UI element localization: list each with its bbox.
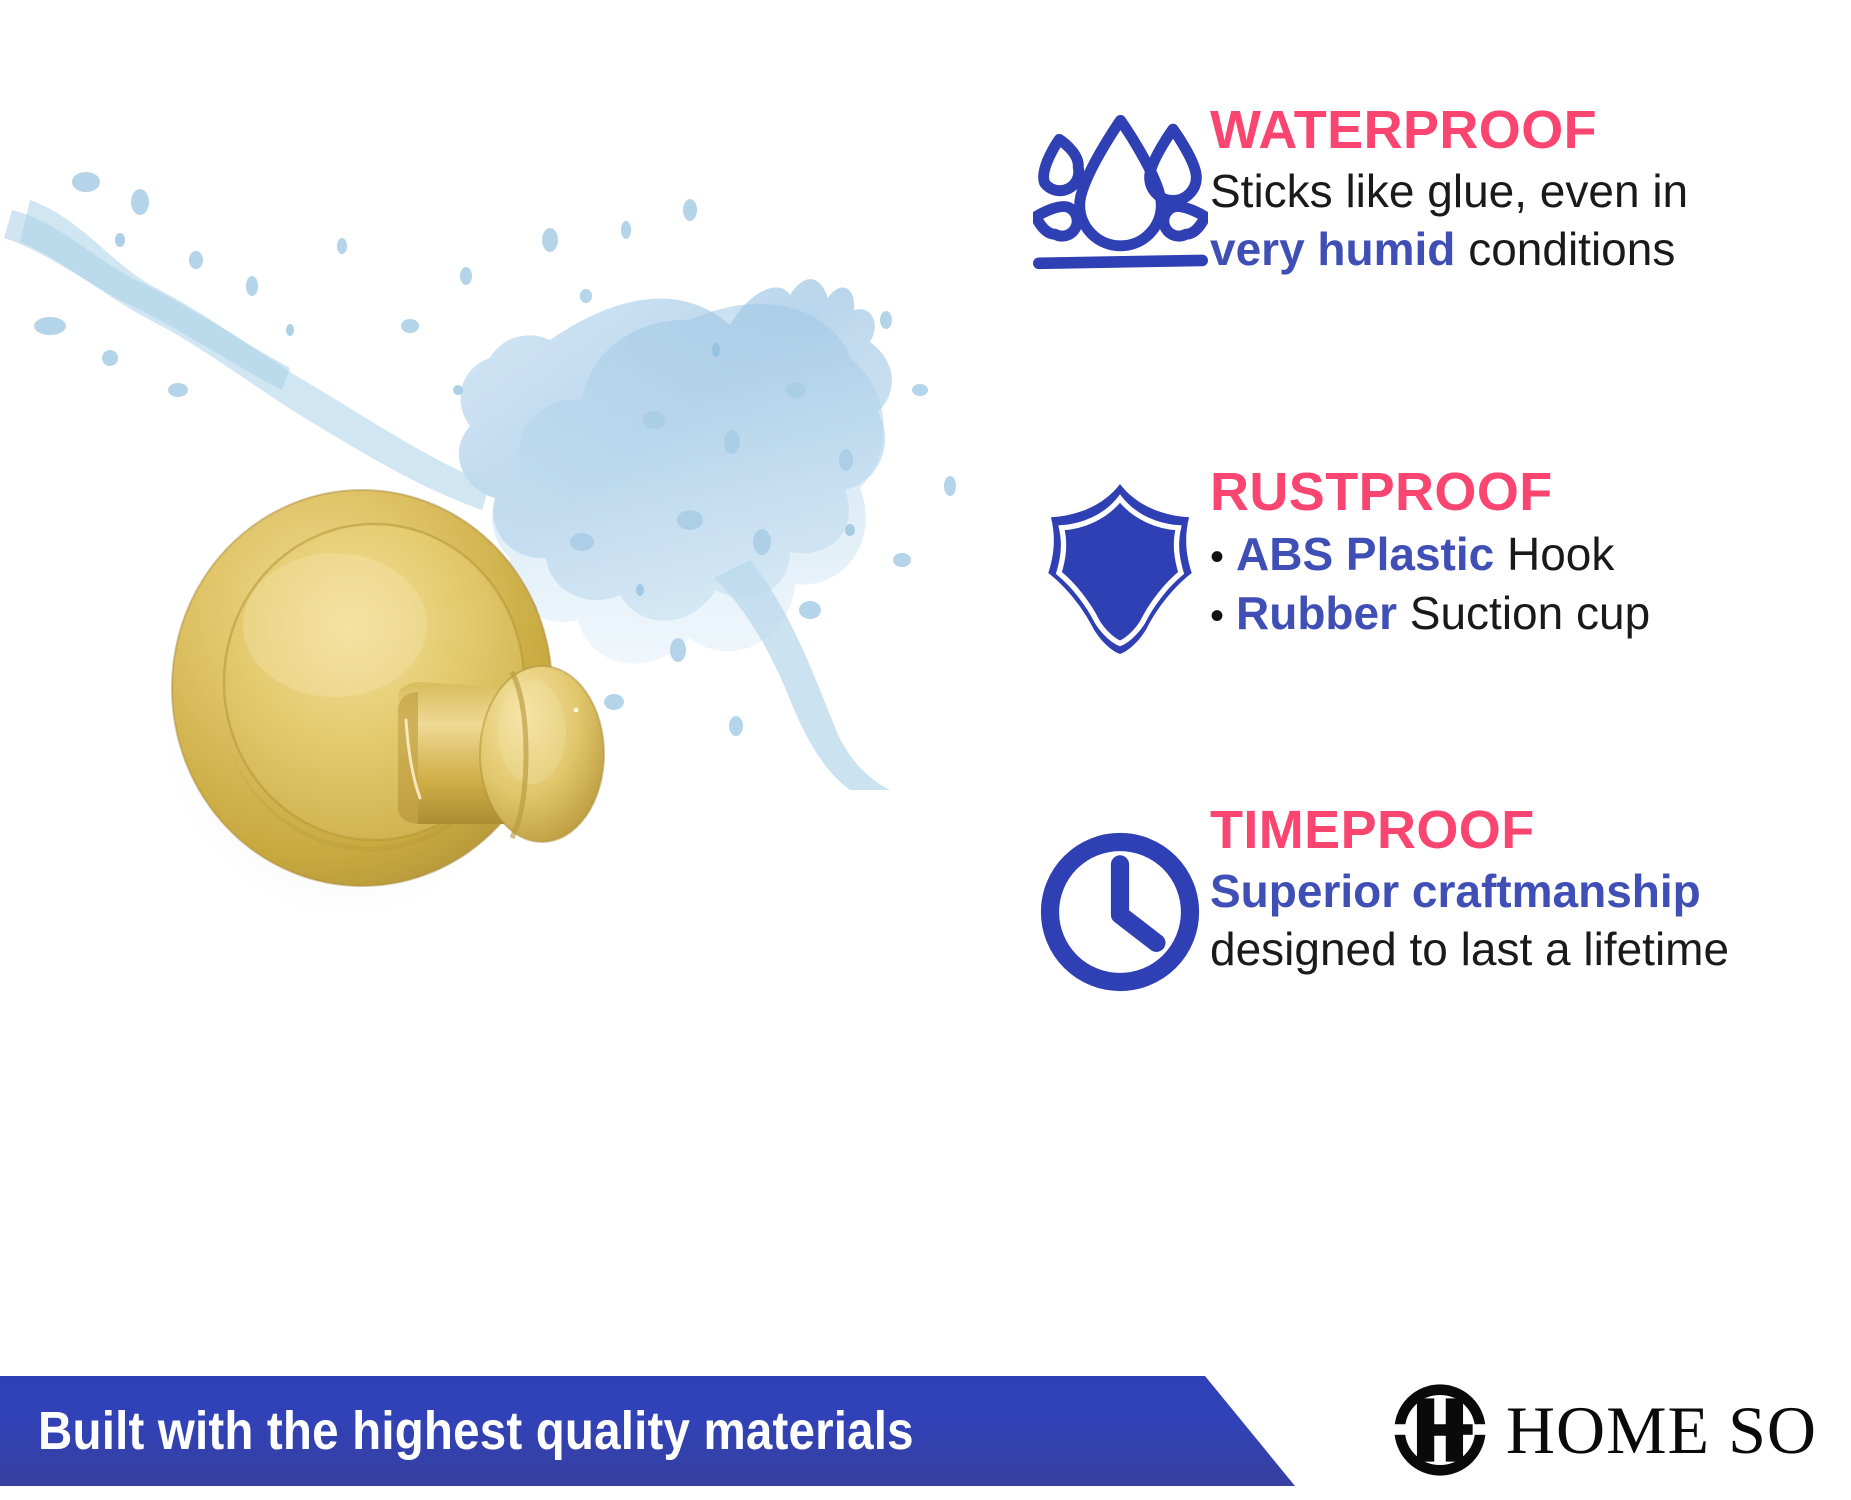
feature-title-rustproof: RUSTPROOF — [1210, 464, 1851, 521]
quality-banner: Built with the highest quality materials — [0, 1376, 1295, 1486]
product-image-panel — [0, 0, 1030, 1360]
bullet-glyph: • — [1210, 596, 1236, 636]
clock-icon — [1036, 828, 1204, 996]
water-droplets-icon — [1033, 100, 1208, 275]
text-segment-highlight: very humid — [1210, 223, 1455, 275]
shield-icon — [1040, 480, 1200, 658]
homeso-monogram-icon — [1392, 1382, 1488, 1478]
feature-waterproof-body: WATERPROOF Sticks like glue, even in ver… — [1210, 100, 1851, 279]
brand-name: HOME SO — [1506, 1396, 1817, 1464]
feature-title-waterproof: WATERPROOF — [1210, 102, 1851, 159]
text-segment-highlight: Rubber — [1236, 587, 1397, 639]
feature-line-2: designed to last a lifetime — [1210, 921, 1851, 979]
list-item: • ABS Plastic Hook — [1210, 525, 1851, 584]
text-segment-highlight: Superior craftmanship — [1210, 865, 1701, 917]
feature-title-timeproof: TIMEPROOF — [1210, 802, 1851, 859]
feature-list: WATERPROOF Sticks like glue, even in ver… — [1030, 0, 1851, 1360]
text-segment: Sticks like glue, even in — [1210, 165, 1688, 217]
feature-rustproof-body: RUSTPROOF • ABS Plastic Hook • Rubber Su… — [1210, 462, 1851, 643]
bullet-glyph: • — [1210, 537, 1236, 577]
shield-icon-wrap — [1030, 462, 1210, 658]
feature-line-1: Superior craftmanship — [1210, 863, 1851, 921]
text-segment: conditions — [1455, 223, 1675, 275]
quality-banner-text: Built with the highest quality materials — [38, 1400, 914, 1462]
bottom-bar: Built with the highest quality materials… — [0, 1362, 1851, 1500]
text-segment: Hook — [1494, 528, 1614, 580]
feature-rustproof: RUSTPROOF • ABS Plastic Hook • Rubber Su… — [1030, 462, 1851, 658]
rustproof-bullet-list: • ABS Plastic Hook • Rubber Suction cup — [1210, 525, 1851, 643]
clock-icon-wrap — [1030, 800, 1210, 996]
text-segment-highlight: ABS Plastic — [1236, 528, 1494, 580]
text-segment: designed to last a lifetime — [1210, 923, 1729, 975]
text-segment: Suction cup — [1397, 587, 1650, 639]
feature-line-1: Sticks like glue, even in — [1210, 163, 1851, 221]
water-droplets-icon-wrap — [1030, 100, 1210, 275]
gold-hook-product-photo — [130, 420, 690, 960]
feature-waterproof: WATERPROOF Sticks like glue, even in ver… — [1030, 100, 1851, 279]
feature-line-2: very humid conditions — [1210, 221, 1851, 279]
list-item: • Rubber Suction cup — [1210, 584, 1851, 643]
brand-lockup: HOME SO — [1392, 1382, 1817, 1478]
feature-timeproof: TIMEPROOF Superior craftmanship designed… — [1030, 800, 1851, 996]
feature-timeproof-body: TIMEPROOF Superior craftmanship designed… — [1210, 800, 1851, 979]
